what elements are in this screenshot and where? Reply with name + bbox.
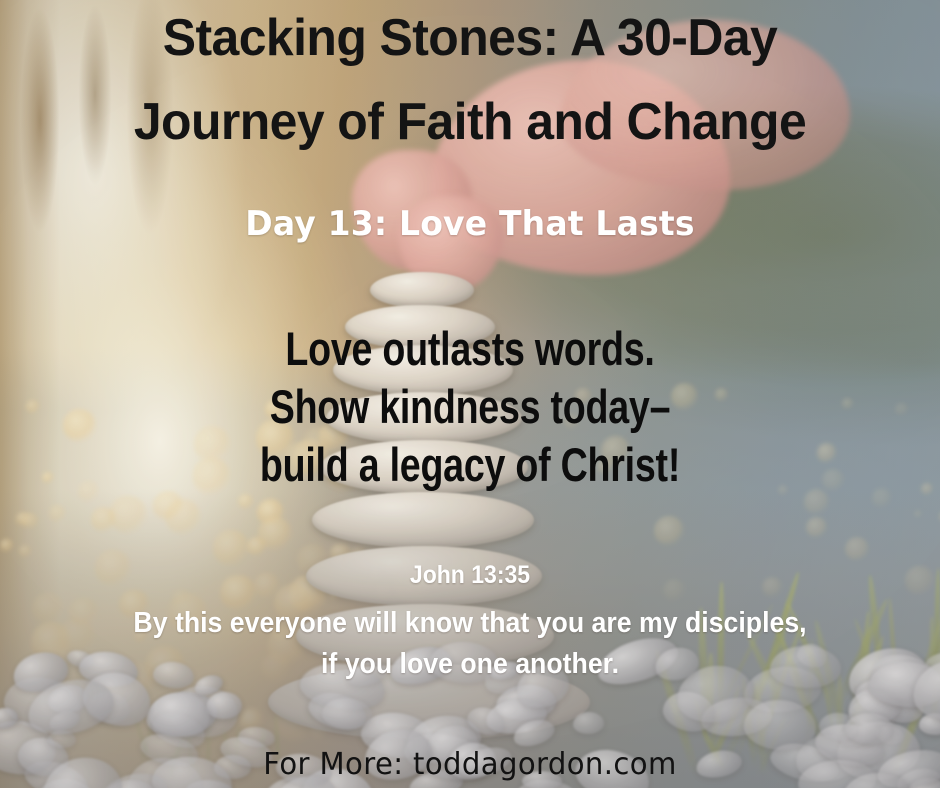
message-line-3: build a legacy of Christ! <box>94 441 846 488</box>
verse-text-line-2: if you love one another. <box>38 650 903 679</box>
verse-reference: John 13:35 <box>38 563 903 588</box>
message-line-1: Love outlasts words. <box>94 325 846 372</box>
poster-content: Stacking Stones: A 30-Day Journey of Fai… <box>0 0 940 788</box>
poster-title-line-1: Stacking Stones: A 30-Day <box>19 12 921 64</box>
day-heading: Day 13: Love That Lasts <box>14 207 926 241</box>
footer-website-link[interactable]: For More: toddagordon.com <box>14 750 926 780</box>
message-line-2: Show kindness today– <box>94 383 846 430</box>
poster-title-line-2: Journey of Faith and Change <box>19 96 921 148</box>
inspirational-poster: Stacking Stones: A 30-Day Journey of Fai… <box>0 0 940 788</box>
verse-text-line-1: By this everyone will know that you are … <box>38 609 903 638</box>
